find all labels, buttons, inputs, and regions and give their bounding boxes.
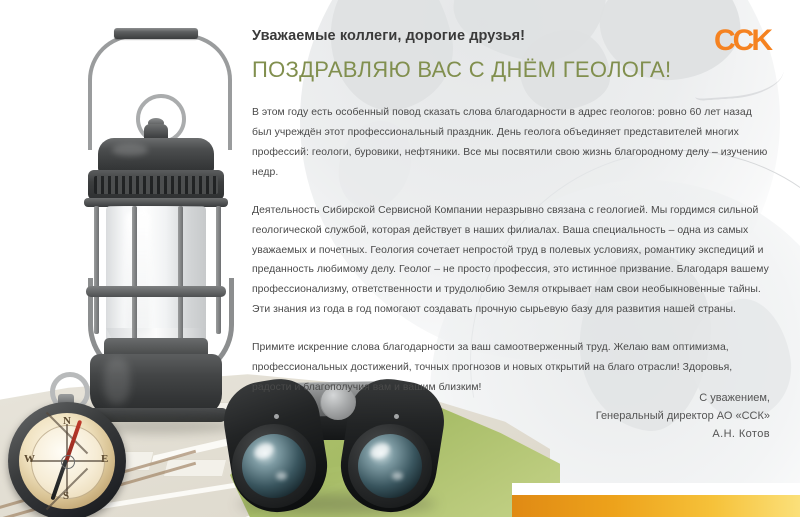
bottom-strip-spacer: [512, 483, 800, 495]
map-block: [108, 405, 175, 421]
binoculars-lens-glare-left: [252, 440, 276, 461]
map-contour-line: [0, 462, 196, 517]
map-road: [52, 452, 428, 516]
lantern-cage-ring: [86, 286, 226, 297]
compass-label-west: W: [24, 453, 35, 465]
body-paragraph-1: В этом году есть особенный повод сказать…: [252, 103, 770, 183]
lantern-vent: [88, 170, 224, 200]
signature-title: Генеральный директор АО «ССК»: [252, 407, 770, 425]
map-block: [47, 413, 100, 431]
compass-label-south: S: [63, 490, 69, 502]
binoculars-lens-right: [358, 434, 422, 498]
compass-needle-north: [64, 420, 82, 463]
compass-ring-icon: [50, 372, 90, 412]
lantern-illustration: [60, 28, 250, 418]
lantern-vent-lip: [84, 198, 228, 207]
lantern-bail-icon: [88, 34, 232, 150]
lantern-glass: [106, 206, 206, 346]
lantern-ring-icon: [136, 94, 186, 144]
body-paragraph-2: Деятельность Сибирской Сервисной Компани…: [252, 201, 770, 321]
compass-hub: [61, 455, 75, 469]
lantern-cage-bar: [132, 206, 137, 356]
compass-rose-line: [46, 412, 88, 454]
lantern-cap-highlight: [112, 144, 148, 156]
map-block: [163, 459, 227, 477]
binoculars-lens-glare2-left: [276, 472, 287, 480]
binoculars-lens-glare2-right: [392, 472, 403, 480]
map-block: [7, 437, 56, 465]
compass-rose-line: [66, 424, 68, 496]
compass-stem: [58, 394, 74, 410]
lantern-cage-curve: [88, 278, 234, 379]
map-block: [78, 451, 155, 471]
bottom-accent-strip: [512, 495, 800, 517]
lantern-knob: [144, 124, 168, 146]
map-road: [148, 450, 432, 517]
greeting-card: W E N S CCK Уважаемые коллеги, дорогие д…: [0, 0, 800, 517]
card-content: Уважаемые коллеги, дорогие друзья! ПОЗДР…: [252, 28, 770, 398]
lantern-base: [90, 354, 222, 416]
lantern-foot: [84, 408, 228, 422]
compass-label-north: N: [63, 415, 71, 427]
lantern-cap: [98, 138, 214, 174]
compass-face: [19, 413, 115, 509]
map-block: [238, 449, 288, 465]
compass-label-east: E: [101, 453, 108, 465]
map-contour-line: [0, 450, 196, 514]
greeting-line: Уважаемые коллеги, дорогие друзья!: [252, 28, 770, 45]
binoculars-lens-glare-right: [368, 440, 392, 461]
binoculars-shadow: [238, 494, 436, 514]
lantern-cage-bar: [94, 206, 99, 334]
headline: ПОЗДРАВЛЯЮ ВАС С ДНЁМ ГЕОЛОГА!: [252, 57, 770, 82]
map-block: [188, 402, 248, 417]
signature-block: С уважением, Генеральный директор АО «СС…: [252, 389, 770, 443]
compass-dial: [31, 425, 105, 499]
lantern-glass-highlight: [126, 212, 150, 332]
compass-body: [8, 402, 126, 517]
lantern-cage-bar: [178, 206, 183, 356]
lantern-knob-top: [148, 118, 164, 128]
lantern-collar: [104, 338, 208, 360]
signature-regards: С уважением,: [252, 389, 770, 407]
lantern-cage-bar: [216, 206, 221, 334]
compass-rose-line: [30, 460, 102, 462]
binoculars-lens-left: [242, 434, 306, 498]
lantern-shadow: [78, 418, 238, 434]
compass-illustration: W E N S: [6, 372, 128, 502]
compass-needle-south: [50, 459, 67, 500]
lantern-base-highlight: [104, 358, 130, 404]
compass-rose-line: [46, 468, 88, 510]
lantern-glass-taper: [106, 328, 206, 362]
lantern-handle-grip: [114, 28, 198, 39]
signature-name: А.Н. Котов: [252, 425, 770, 443]
